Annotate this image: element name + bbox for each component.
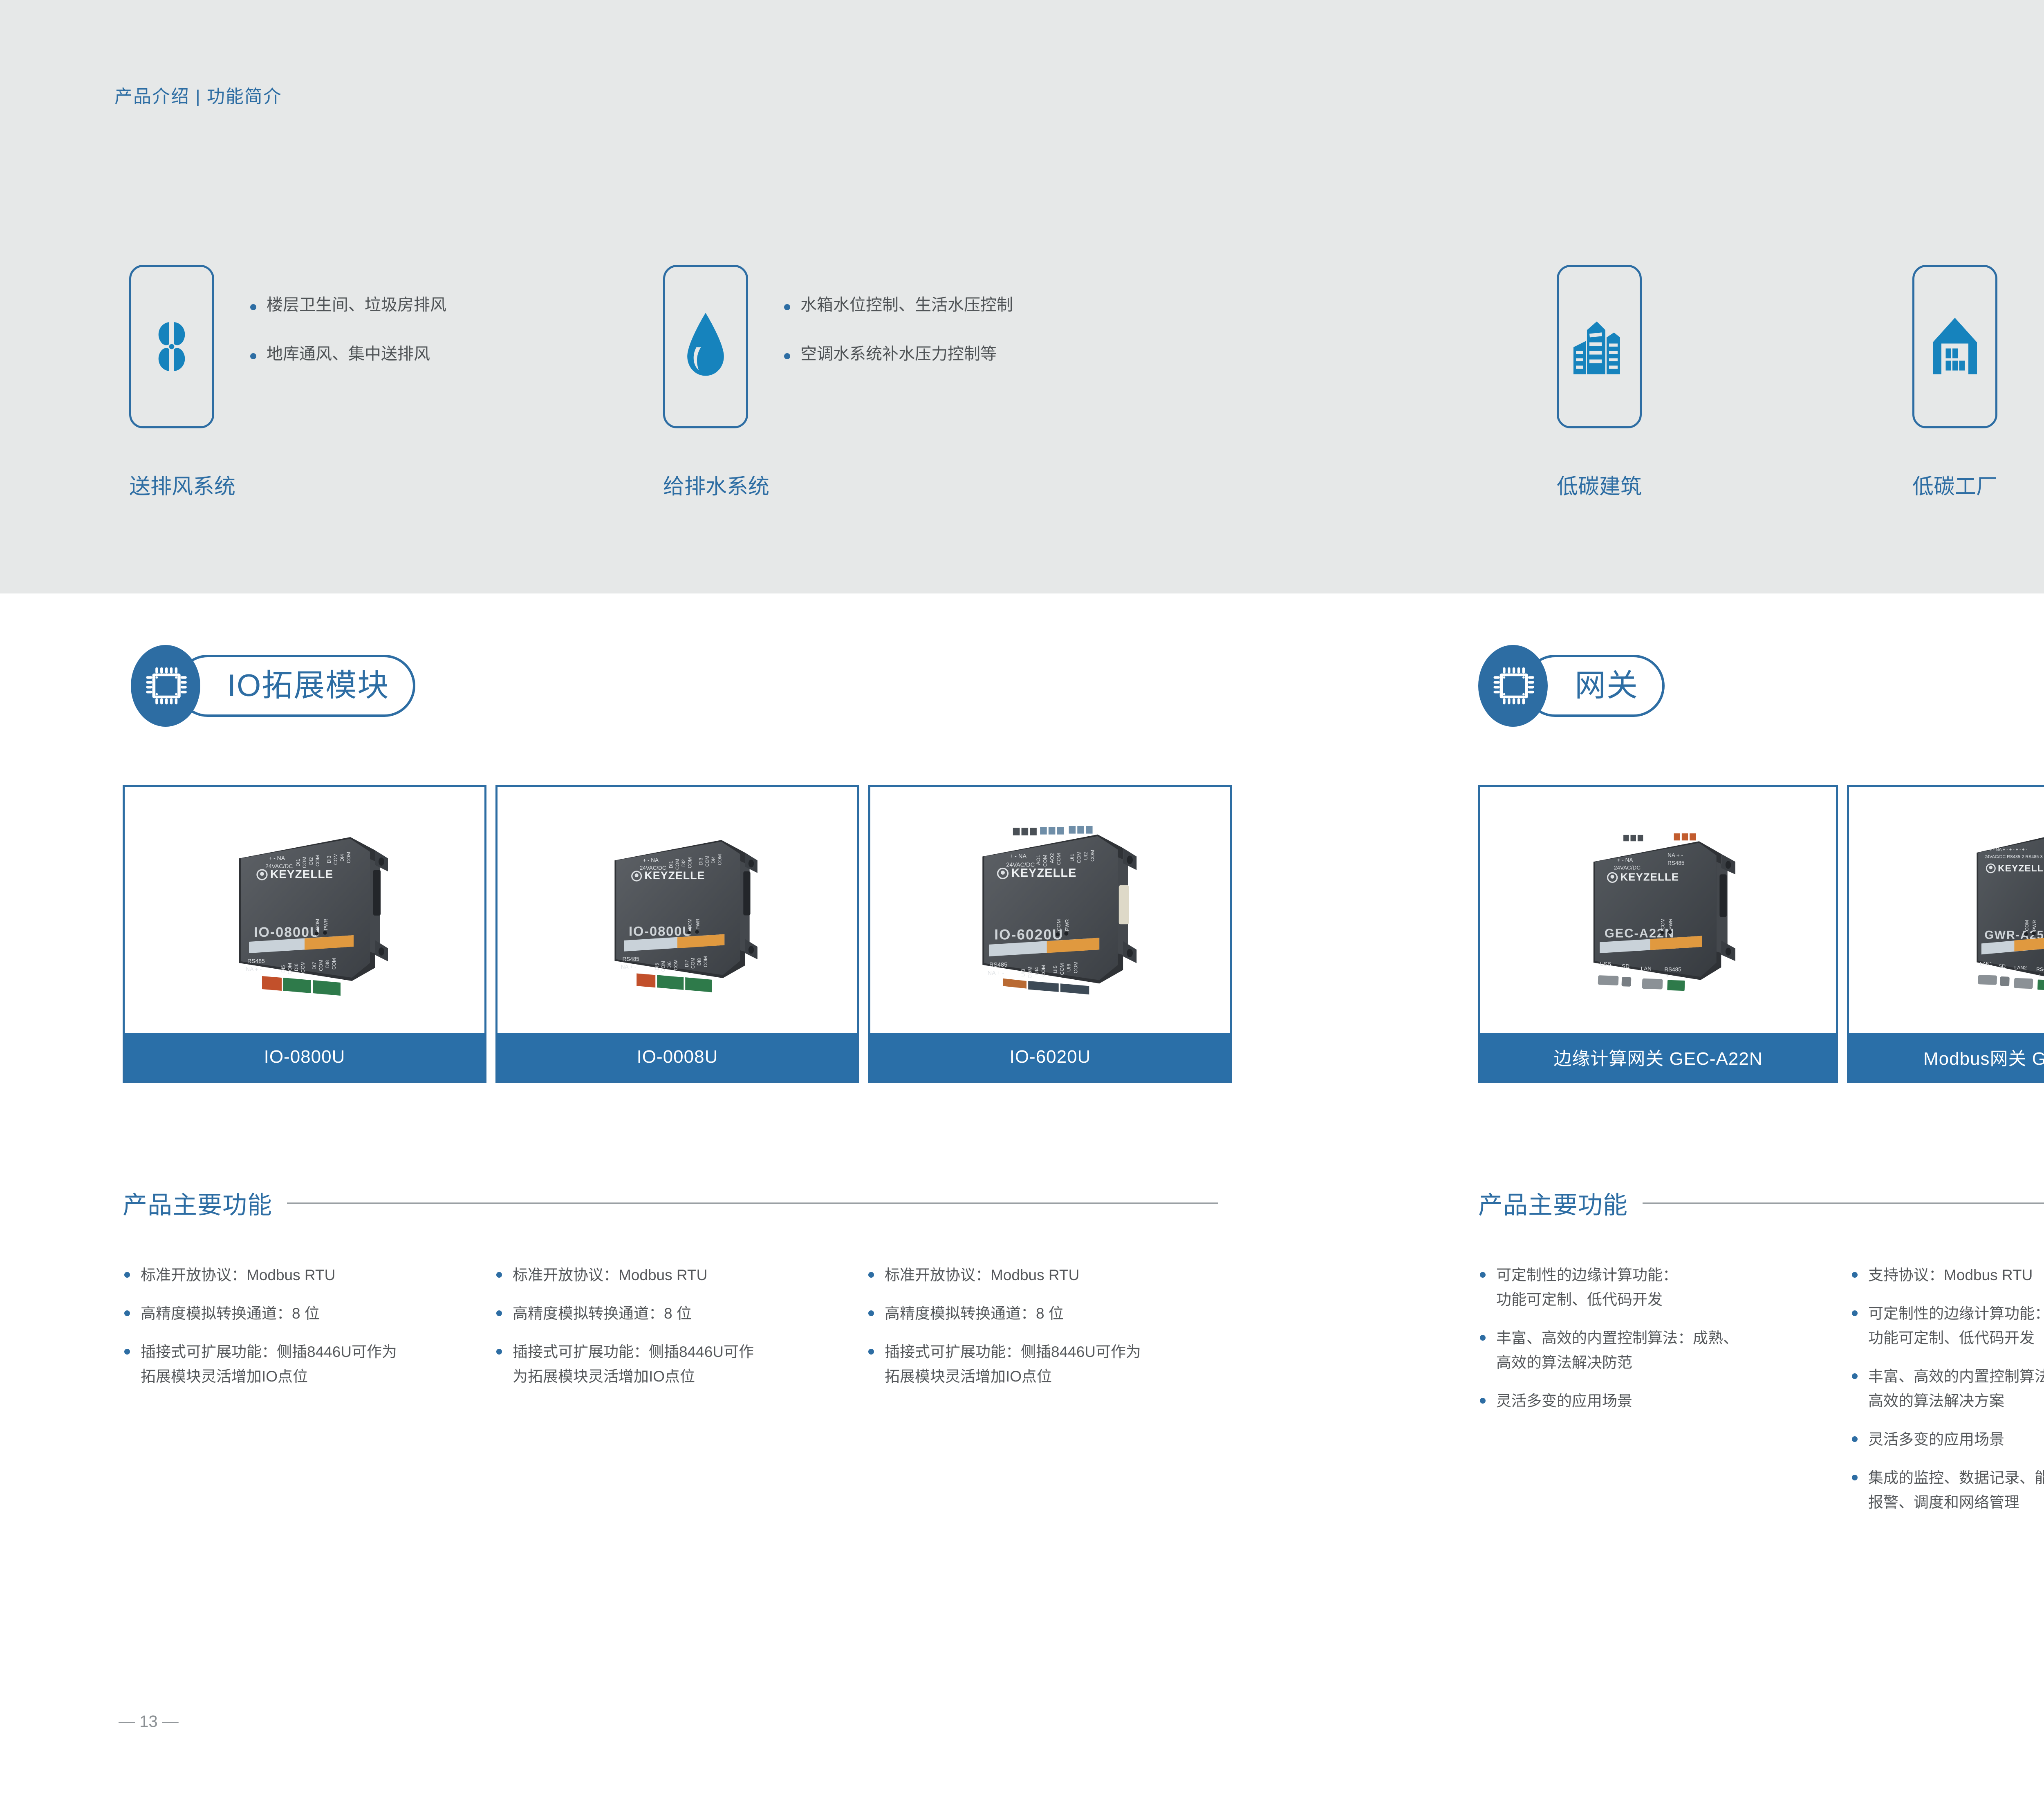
svg-text:COM: COM — [1090, 850, 1096, 862]
feature-item: 高精度模拟转换通道：8 位 — [495, 1301, 854, 1326]
product-card[interactable]: + - NA 24VAC/DC AO1 COM AO2 COM UI1 COM … — [868, 785, 1232, 1083]
features-column: 标准开放协议：Modbus RTU 高精度模拟转换通道：8 位 插接式可扩展功能… — [867, 1263, 1226, 1403]
chip-icon-circle-gateway — [1478, 645, 1548, 727]
section-title-gateway: 网关 — [1575, 670, 1638, 701]
svg-text:COM: COM — [1056, 853, 1062, 865]
features-column: 可定制性的边缘计算功能： 功能可定制、低代码开发 丰富、高效的内置控制算法：成熟… — [1478, 1263, 1838, 1529]
tile-low-carbon-building: 低碳建筑 — [1557, 265, 1642, 500]
feature-item: 插接式可扩展功能：侧插8446U可作 为拓展模块灵活增加IO点位 — [495, 1340, 854, 1389]
svg-text:+ - NA: + - NA — [269, 855, 285, 861]
svg-text:COM: COM — [661, 961, 666, 972]
svg-text:DI4: DI4 — [711, 856, 716, 864]
svg-text:DI5: DI5 — [655, 963, 660, 970]
svg-text:UI2: UI2 — [1083, 852, 1089, 860]
svg-text:COM: COM — [1076, 851, 1082, 863]
svg-text:RS485: RS485 — [1664, 966, 1681, 972]
device-photo-gateway: + - NA + - + - + - + - 24VAC/DC RS485-2 … — [1933, 812, 2044, 1008]
svg-text:DI4: DI4 — [339, 854, 345, 862]
office-building-icon — [1569, 300, 1630, 394]
svg-text:KEYZELLE: KEYZELLE — [644, 869, 705, 882]
svg-text:COM: COM — [331, 958, 337, 970]
svg-text:+ - NA + - + - + -: + - NA + - + - + - + - — [1989, 847, 2028, 852]
water-drop-icon-frame — [663, 265, 748, 428]
svg-text:SD: SD — [1622, 963, 1629, 970]
svg-text:RS485: RS485 — [247, 958, 265, 964]
fan-icon — [141, 300, 202, 394]
features-column: 标准开放协议：Modbus RTU 高精度模拟转换通道：8 位 插接式可扩展功能… — [495, 1263, 854, 1403]
product-image-io-0008u: + - NA 24VAC/DC DI1 COM DI2 COM DI3 COM … — [498, 787, 857, 1033]
svg-text:DI1: DI1 — [295, 859, 301, 867]
svg-text:COM: COM — [315, 855, 320, 867]
features-title-right: 产品主要功能 — [1478, 1185, 1628, 1221]
device-photo-io-module: + - NA 24VAC/DC DI1 COM DI2 COM DI3 COM … — [567, 812, 788, 1008]
svg-text:COM: COM — [688, 918, 693, 929]
feature-item: 灵活多变的应用场景 — [1478, 1389, 1838, 1413]
svg-text:UI6: UI6 — [1066, 964, 1072, 972]
svg-text:UI3: UI3 — [1020, 969, 1026, 976]
svg-text:KEYZELLE: KEYZELLE — [1998, 863, 2044, 873]
factory-icon-frame — [1912, 265, 1997, 428]
section-title-io: IO拓展模块 — [227, 670, 389, 701]
chip-icon-circle-io — [131, 645, 200, 727]
feature-item: 插接式可扩展功能：侧插8446U可作为 拓展模块灵活增加IO点位 — [123, 1340, 482, 1389]
svg-text:COM: COM — [704, 956, 708, 967]
product-image-io-6020u: + - NA 24VAC/DC AO1 COM AO2 COM UI1 COM … — [870, 787, 1230, 1033]
svg-text:PWR: PWR — [323, 919, 329, 930]
svg-text:COM: COM — [1041, 965, 1047, 977]
device-photo-io-module: + - NA 24VAC/DC DI1 COM DI2 COM DI3 COM … — [190, 808, 419, 1012]
features-columns-left: 标准开放协议：Modbus RTU 高精度模拟转换通道：8 位 插接式可扩展功能… — [123, 1263, 1226, 1403]
office-building-icon-frame — [1557, 265, 1642, 428]
svg-text:COM: COM — [300, 961, 306, 973]
feature-item: 标准开放协议：Modbus RTU — [123, 1263, 482, 1287]
product-caption: IO-0800U — [125, 1033, 484, 1081]
svg-text:LAN: LAN — [1641, 966, 1652, 972]
features-columns-right: 可定制性的边缘计算功能： 功能可定制、低代码开发 丰富、高效的内置控制算法：成熟… — [1478, 1263, 2044, 1529]
feature-item: 丰富、高效的内置控制算法：成熟、 高效的算法解决防范 — [1478, 1326, 1838, 1375]
product-card[interactable]: + - NA 24VAC/DC DI1 COM DI2 COM DI3 COM … — [495, 785, 859, 1083]
scenario-bullets-ventilation: 楼层卫生间、垃圾房排风 地库通风、集中送排风 — [248, 297, 446, 395]
svg-text:DI3: DI3 — [326, 855, 332, 863]
svg-text:USB: USB — [1600, 961, 1611, 967]
svg-text:DI8: DI8 — [697, 958, 702, 965]
svg-text:KEYZELLE: KEYZELLE — [1011, 867, 1077, 880]
svg-text:COM: COM — [346, 852, 352, 863]
features-rule-right — [1643, 1202, 2044, 1204]
svg-text:AO2: AO2 — [1049, 853, 1055, 863]
svg-text:DI2: DI2 — [681, 859, 686, 867]
svg-text:DI7: DI7 — [685, 960, 690, 967]
svg-text:PWR: PWR — [696, 918, 701, 929]
svg-text:COM: COM — [315, 919, 320, 930]
device-photo-io-module: + - NA 24VAC/DC AO1 COM AO2 COM UI1 COM … — [932, 804, 1169, 1016]
product-caption: IO-0008U — [498, 1033, 857, 1081]
feature-item: 可定制性的边缘计算功能： 功能可定制、低代码开发 — [1478, 1263, 1838, 1312]
svg-text:COM: COM — [1059, 963, 1065, 975]
features-heading-right: 产品主要功能 — [1478, 1185, 2044, 1221]
svg-text:PWR: PWR — [2033, 920, 2037, 931]
scenario-bullet: 地库通风、集中送排风 — [248, 346, 446, 362]
svg-text:+ - NA: + - NA — [643, 857, 659, 863]
scenario-label-ventilation: 送排风系统 — [129, 469, 235, 500]
product-caption: IO-6020U — [870, 1033, 1230, 1081]
product-card-row-gateway: + - NA 24VAC/DC NA + - RS485 KEYZELLE GE… — [1478, 785, 2044, 1083]
features-column: 支持协议：Modbus RTU 可定制性的边缘计算功能： 功能可定制、低代码开发… — [1850, 1263, 2044, 1529]
svg-text:UI5: UI5 — [1053, 965, 1058, 973]
features-column: 标准开放协议：Modbus RTU 高精度模拟转换通道：8 位 插接式可扩展功能… — [123, 1263, 482, 1403]
feature-item: 支持协议：Modbus RTU — [1850, 1263, 2044, 1287]
svg-text:DI6: DI6 — [294, 963, 299, 971]
tile-label-low-carbon-building: 低碳建筑 — [1557, 469, 1642, 500]
svg-text:COM: COM — [705, 856, 710, 867]
svg-text:COM: COM — [1027, 967, 1033, 978]
svg-text:DI7: DI7 — [312, 962, 317, 970]
product-image-io-0800u: + - NA 24VAC/DC DI1 COM DI2 COM DI3 COM … — [125, 787, 484, 1033]
svg-text:IO-6020U: IO-6020U — [994, 927, 1063, 943]
svg-text:COM: COM — [333, 853, 338, 865]
svg-text:UI1: UI1 — [1069, 854, 1075, 862]
svg-text:COM: COM — [688, 857, 693, 868]
feature-item: 丰富、高效的内置控制算法：成熟、 高效的算法解决方案 — [1850, 1364, 2044, 1413]
svg-text:PWR: PWR — [1669, 918, 1674, 929]
svg-text:NA + -: NA + - — [246, 966, 262, 972]
svg-text:COM: COM — [691, 958, 696, 969]
svg-text:AO1: AO1 — [1035, 855, 1041, 865]
scenario-bullet: 空调水系统补水压力控制等 — [782, 346, 1013, 362]
running-head-left: 产品介绍 | 功能简介 — [114, 82, 282, 108]
section-badge-pill-io: IO拓展模块 — [177, 655, 415, 717]
svg-text:LAN1: LAN1 — [1980, 961, 1992, 967]
scenario-bullet: 水箱水位控制、生活水压控制 — [782, 297, 1013, 313]
features-rule-left — [287, 1202, 1218, 1204]
brochure-spread: 产品介绍 | 功能简介 产品介绍 | 功能简介 楼层卫生间、垃圾房排风 地库通风… — [0, 0, 2044, 1798]
product-image-gwr-a25n: + - NA + - + - + - + - 24VAC/DC RS485-2 … — [1849, 787, 2044, 1033]
svg-text:24VAC/DC: 24VAC/DC — [1614, 865, 1641, 871]
svg-text:24VAC/DC RS485-2 RS485-3 RS485: 24VAC/DC RS485-2 RS485-3 RS485-4 RA485-5 — [1985, 855, 2044, 860]
features-heading-left: 产品主要功能 — [123, 1185, 1218, 1221]
tile-label-low-carbon-factory: 低碳工厂 — [1912, 469, 1997, 500]
scenario-bullets-plumbing: 水箱水位控制、生活水压控制 空调水系统补水压力控制等 — [782, 297, 1013, 395]
feature-item: 标准开放协议：Modbus RTU — [495, 1263, 854, 1287]
product-image-gec-a22n: + - NA 24VAC/DC NA + - RS485 KEYZELLE GE… — [1480, 787, 1836, 1033]
svg-text:DI3: DI3 — [699, 858, 704, 865]
scenario-bullet: 楼层卫生间、垃圾房排风 — [248, 297, 446, 313]
svg-text:COM: COM — [1073, 961, 1078, 973]
tile-low-carbon-factory: 低碳工厂 — [1912, 265, 1997, 500]
svg-text:+ - NA: + - NA — [1010, 853, 1027, 860]
factory-icon — [1924, 300, 1986, 394]
product-caption: Modbus网关 GWR-A25N — [1849, 1033, 2044, 1081]
fan-icon-frame — [129, 265, 214, 428]
svg-text:+ -: + - — [2038, 973, 2044, 978]
feature-item: 高精度模拟转换通道：8 位 — [867, 1301, 1226, 1326]
product-card-row-io: + - NA 24VAC/DC DI1 COM DI2 COM DI3 COM … — [123, 785, 1232, 1083]
svg-text:COM: COM — [674, 959, 679, 970]
svg-text:DI5: DI5 — [280, 965, 286, 973]
svg-text:COM: COM — [2025, 920, 2030, 931]
svg-text:DI6: DI6 — [668, 961, 672, 969]
svg-text:RS485: RS485 — [1667, 860, 1684, 866]
svg-text:COM: COM — [302, 857, 307, 868]
svg-text:COM: COM — [1661, 918, 1665, 929]
svg-text:+ - NA: + - NA — [1617, 857, 1633, 863]
svg-text:LAN2: LAN2 — [2014, 965, 2027, 971]
feature-item: 高精度模拟转换通道：8 位 — [123, 1301, 482, 1326]
chip-icon — [143, 663, 188, 709]
svg-text:COM: COM — [675, 859, 680, 870]
svg-text:COM: COM — [718, 854, 723, 865]
svg-text:NA + -: NA + - — [988, 970, 1004, 977]
svg-text:COM: COM — [1056, 919, 1062, 931]
product-card[interactable]: + - NA 24VAC/DC DI1 COM DI2 COM DI3 COM … — [123, 785, 486, 1083]
features-title-left: 产品主要功能 — [123, 1185, 272, 1221]
svg-text:KEYZELLE: KEYZELLE — [270, 868, 333, 880]
svg-text:UI4: UI4 — [1034, 967, 1040, 975]
feature-item: 标准开放协议：Modbus RTU — [867, 1263, 1226, 1287]
product-card[interactable]: + - NA 24VAC/DC NA + - RS485 KEYZELLE GE… — [1478, 785, 1838, 1083]
water-drop-icon — [677, 298, 734, 396]
feature-item: 集成的监控、数据记录、能耗计量、 报警、调度和网络管理 — [1850, 1466, 2044, 1515]
svg-text:DI2: DI2 — [308, 857, 314, 865]
chip-icon — [1491, 663, 1535, 709]
svg-text:RS485-1: RS485-1 — [2036, 967, 2044, 972]
svg-text:KEYZELLE: KEYZELLE — [1620, 871, 1679, 883]
svg-text:SD: SD — [1999, 963, 2006, 969]
svg-text:PWR: PWR — [1065, 919, 1070, 931]
svg-text:IO-0800U: IO-0800U — [254, 925, 320, 940]
svg-text:NA + -: NA + - — [621, 964, 637, 970]
svg-text:DI8: DI8 — [325, 960, 330, 968]
svg-text:DI1: DI1 — [669, 861, 674, 868]
scenario-block-plumbing: 水箱水位控制、生活水压控制 空调水系统补水压力控制等 给排水系统 — [663, 265, 769, 500]
svg-text:RS485: RS485 — [623, 956, 639, 962]
device-photo-gateway: + - NA 24VAC/DC NA + - RS485 KEYZELLE GE… — [1548, 810, 1768, 1010]
scenario-block-ventilation: 楼层卫生间、垃圾房排风 地库通风、集中送排风 送排风系统 — [129, 265, 235, 500]
feature-item: 灵活多变的应用场景 — [1850, 1427, 2044, 1452]
svg-text:COM: COM — [1042, 855, 1048, 867]
svg-text:COM: COM — [287, 963, 293, 974]
feature-item: 插接式可扩展功能：侧插8446U可作为 拓展模块灵活增加IO点位 — [867, 1340, 1226, 1389]
scenario-label-plumbing: 给排水系统 — [663, 469, 769, 500]
page-number-left: — 13 — — [119, 1713, 179, 1731]
svg-text:+ -: + - — [1666, 973, 1672, 979]
feature-item: 可定制性的边缘计算功能： 功能可定制、低代码开发 — [1850, 1301, 2044, 1350]
svg-text:IO-0800U: IO-0800U — [629, 923, 693, 938]
product-card[interactable]: + - NA + - + - + - + - 24VAC/DC RS485-2 … — [1847, 785, 2044, 1083]
svg-text:NA + -: NA + - — [1667, 852, 1683, 858]
svg-text:RS485: RS485 — [989, 962, 1007, 968]
product-caption: 边缘计算网关 GEC-A22N — [1480, 1033, 1836, 1081]
svg-text:COM: COM — [318, 960, 324, 971]
